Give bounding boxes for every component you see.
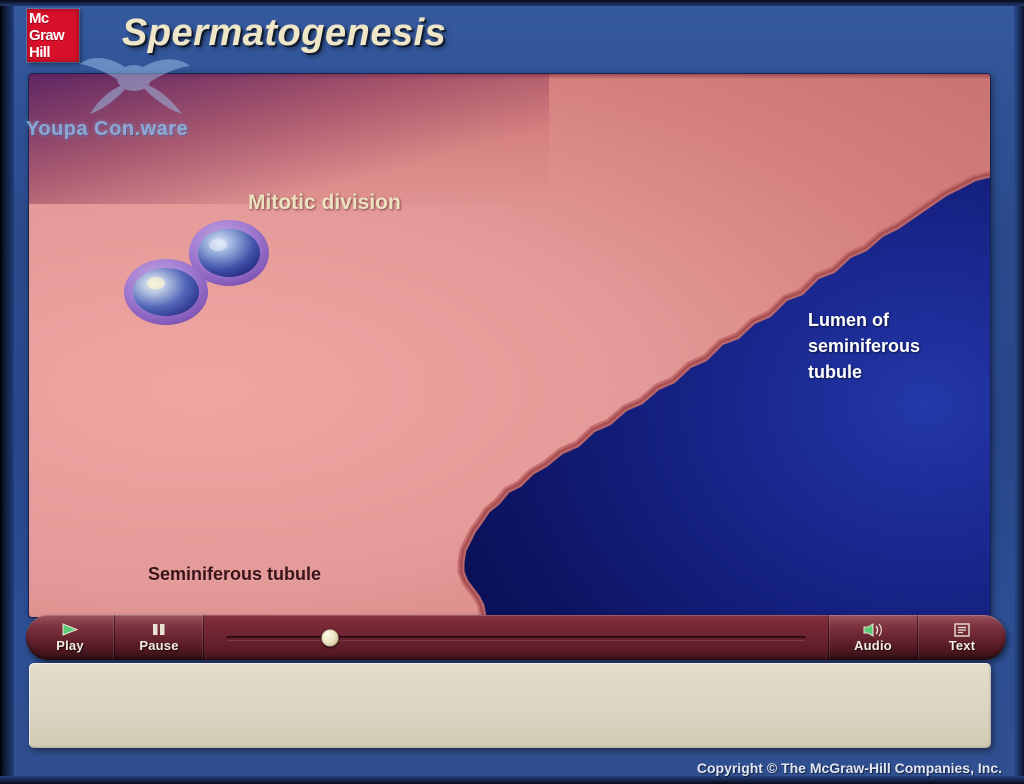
text-button-label: Text — [949, 638, 976, 653]
animation-stage: Mitotic division Lumen of seminiferous t… — [29, 74, 990, 617]
mcgraw-hill-logo: Mc Graw Hill — [27, 9, 79, 62]
copyright-notice: Copyright © The McGraw-Hill Companies, I… — [697, 760, 1002, 776]
header-bar: Mc Graw Hill Spermatogenesis — [0, 0, 1024, 62]
frame-edge-bottom — [0, 776, 1024, 784]
text-button[interactable]: Text — [917, 615, 1006, 660]
label-lumen-of-seminiferous-tubule: Lumen of seminiferous tubule — [808, 307, 920, 385]
frame-edge-right — [1014, 0, 1024, 784]
play-triangle-icon — [61, 622, 79, 637]
media-player-window: Mc Graw Hill Spermatogenesis — [0, 0, 1024, 784]
caption-panel — [29, 663, 991, 748]
progress-thumb[interactable] — [322, 629, 339, 646]
dividing-cells-illustration — [117, 212, 287, 332]
label-mitotic-division: Mitotic division — [248, 191, 401, 215]
logo-line-2: Graw — [29, 27, 77, 44]
player-control-bar: Play Pause Au — [26, 615, 1006, 660]
logo-wordmark: Mc Graw Hill — [29, 10, 77, 61]
play-button-label: Play — [56, 638, 84, 653]
audio-button[interactable]: Audio — [828, 615, 917, 660]
progress-scrubber[interactable] — [204, 615, 828, 660]
pause-button[interactable]: Pause — [115, 615, 204, 660]
pause-button-label: Pause — [139, 638, 178, 653]
page-title: Spermatogenesis — [122, 12, 446, 55]
logo-line-1: Mc — [29, 10, 77, 27]
text-page-icon — [954, 622, 970, 637]
logo-line-3: Hill — [29, 44, 77, 61]
speaker-icon — [862, 622, 884, 637]
play-button[interactable]: Play — [26, 615, 115, 660]
label-seminiferous-tubule: Seminiferous tubule — [148, 564, 321, 585]
audio-button-label: Audio — [854, 638, 892, 653]
pause-bars-icon — [150, 622, 168, 637]
frame-edge-left — [0, 0, 14, 784]
caption-text — [29, 663, 991, 683]
progress-track[interactable] — [226, 636, 806, 640]
